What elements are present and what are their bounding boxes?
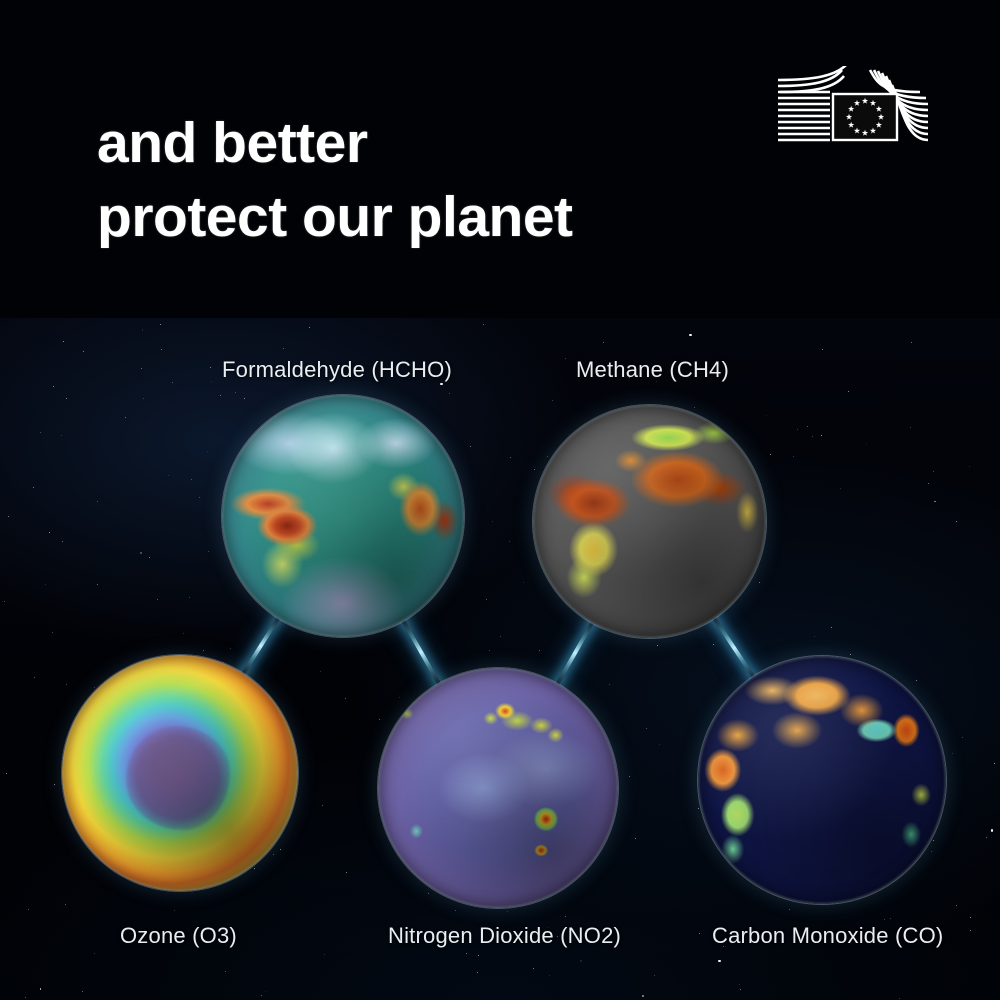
globe-label-nitrogen-dioxide: Nitrogen Dioxide (NO2) [388,923,621,949]
globe-nitrogen-dioxide[interactable] [378,668,618,908]
globe-label-ozone: Ozone (O3) [120,923,237,949]
globe-carbon-monoxide[interactable] [698,656,946,904]
headline-banner: and better protect our planet [0,0,1000,318]
globe-methane[interactable] [533,405,766,638]
poster-canvas: Formaldehyde (HCHO) Methane (CH4) Ozone … [0,0,1000,1000]
globe-ozone[interactable] [62,655,298,891]
globe-surface-formaldehyde [222,395,464,637]
globe-surface-ozone [62,655,298,891]
globe-formaldehyde[interactable] [222,395,464,637]
page-title: and better protect our planet [97,106,573,254]
globe-surface-nitrogen-dioxide [378,668,618,908]
globe-label-carbon-monoxide: Carbon Monoxide (CO) [712,923,943,949]
globe-label-methane: Methane (CH4) [576,357,729,383]
globe-label-formaldehyde: Formaldehyde (HCHO) [222,357,452,383]
globe-surface-methane [533,405,766,638]
european-commission-logo[interactable] [770,66,935,154]
globe-surface-carbon-monoxide [698,656,946,904]
